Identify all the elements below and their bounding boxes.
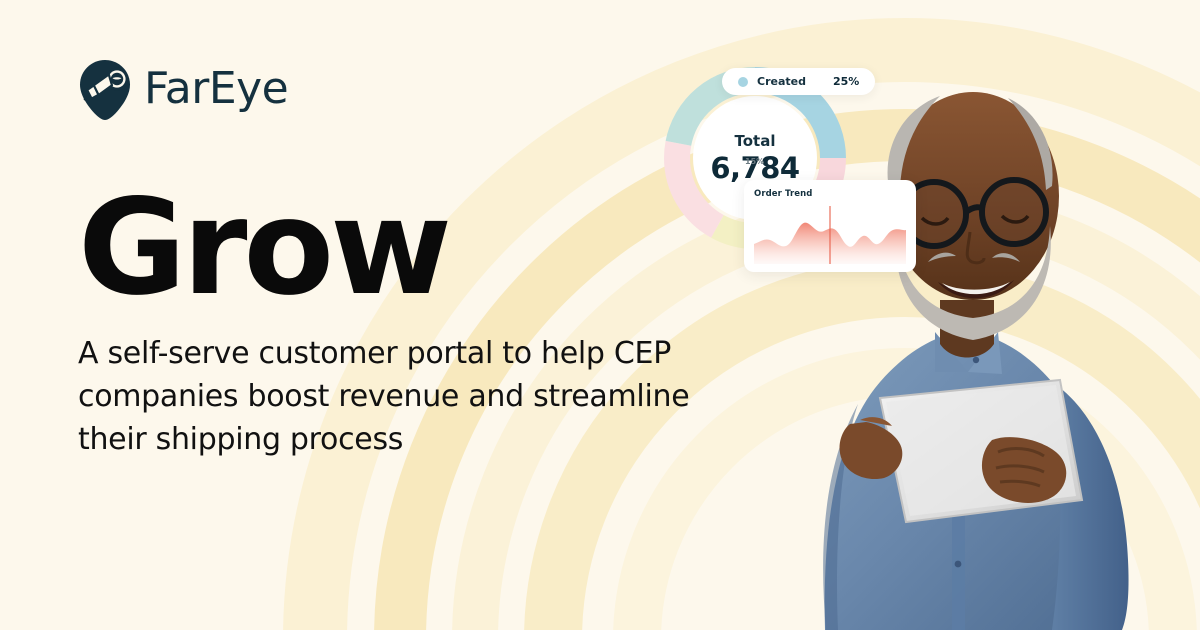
legend-label: Created: [757, 75, 806, 88]
legend-value: 25%: [833, 75, 859, 88]
page-subtitle: A self-serve customer portal to help CEP…: [78, 333, 718, 462]
page-title: Grow: [78, 182, 448, 314]
order-trend-title: Order Trend: [754, 189, 906, 199]
marketing-banner: FarEye Grow A self-serve customer portal…: [0, 0, 1200, 630]
order-trend-card[interactable]: Order Trend: [744, 180, 916, 272]
donut-legend-pill[interactable]: Created 25%: [722, 68, 875, 95]
logo-wordmark: FarEye: [144, 67, 288, 111]
fareye-logo[interactable]: FarEye: [76, 58, 288, 120]
telescope-map-pin-icon: [76, 58, 134, 120]
legend-dot-icon: [738, 77, 748, 87]
order-trend-area-chart: [754, 206, 906, 264]
